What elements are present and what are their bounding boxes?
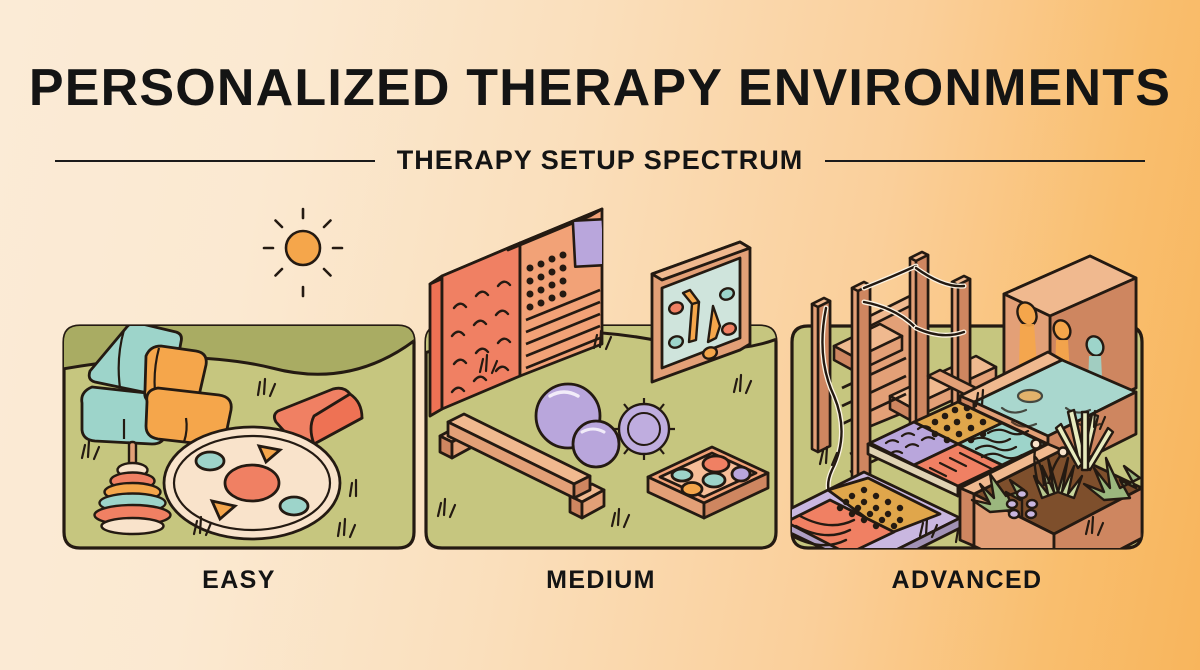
caption-advanced: ADVANCED bbox=[790, 566, 1144, 595]
infographic-canvas: PERSONALIZED THERAPY ENVIRONMENTS THERAP… bbox=[0, 0, 1200, 670]
panel-medium[interactable] bbox=[424, 196, 778, 556]
subtitle-rule-left bbox=[55, 160, 375, 162]
caption-medium: MEDIUM bbox=[424, 566, 778, 595]
sun-icon bbox=[264, 209, 342, 296]
page-subtitle: THERAPY SETUP SPECTRUM bbox=[397, 145, 804, 176]
subtitle-rule-right bbox=[825, 160, 1145, 162]
therapy-ball-small bbox=[573, 421, 619, 467]
page-title: PERSONALIZED THERAPY ENVIRONMENTS bbox=[0, 62, 1200, 114]
subtitle-row: THERAPY SETUP SPECTRUM bbox=[0, 145, 1200, 176]
play-mat bbox=[164, 427, 340, 539]
panel-advanced[interactable] bbox=[790, 196, 1144, 556]
panel-row bbox=[0, 196, 1200, 556]
caption-easy: EASY bbox=[62, 566, 416, 595]
panel-easy[interactable] bbox=[62, 196, 416, 556]
